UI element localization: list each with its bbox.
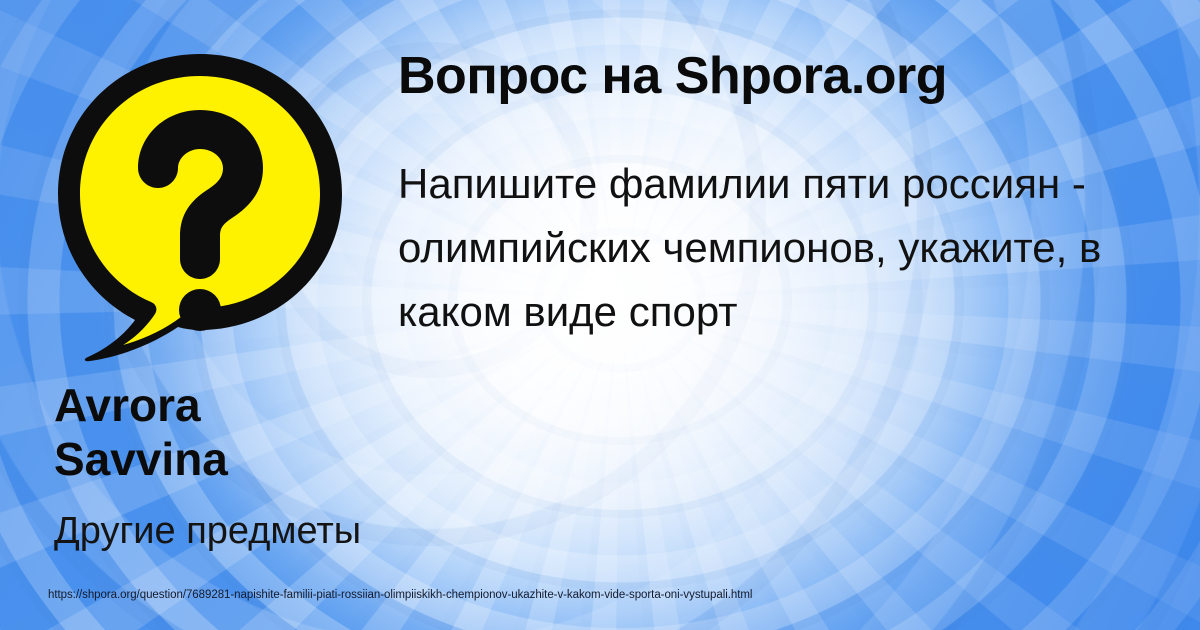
share-card: Вопрос на Shpora.org Напишите фамилии пя… bbox=[0, 0, 1200, 630]
question-text: Напишите фамилии пяти россиян - олимпийс… bbox=[398, 152, 1168, 344]
page-title: Вопрос на Shpora.org bbox=[398, 46, 947, 106]
question-speech-bubble-icon bbox=[52, 48, 352, 363]
author-name: Avrora Savvina bbox=[54, 378, 384, 486]
card-content: Вопрос на Shpora.org Напишите фамилии пя… bbox=[0, 0, 1200, 630]
source-url[interactable]: https://shpora.org/question/7689281-napi… bbox=[48, 589, 752, 601]
subject-label: Другие предметы bbox=[54, 510, 361, 553]
